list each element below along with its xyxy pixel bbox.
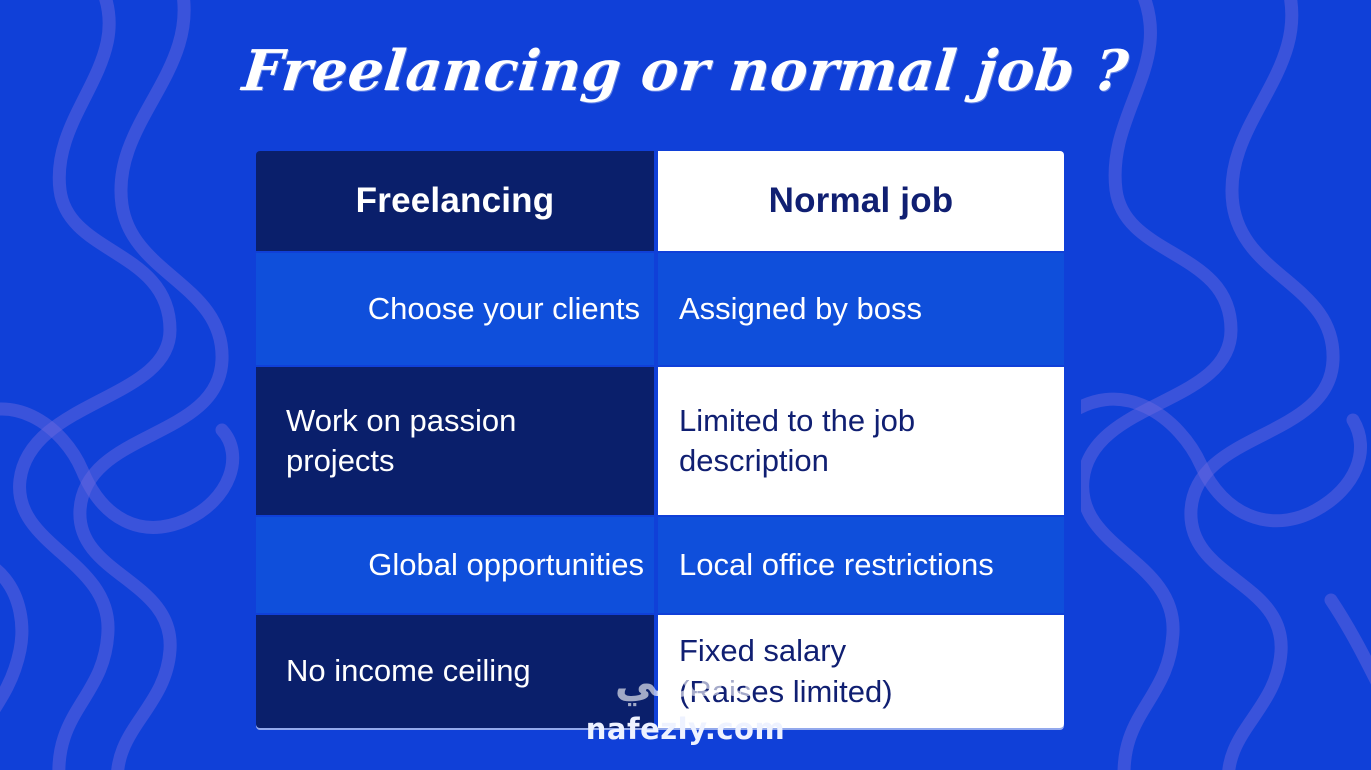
table-row: No income ceiling Fixed salary (Raises l… bbox=[256, 615, 1064, 728]
table-row: Work on passion projects Limited to the … bbox=[256, 367, 1064, 515]
table-header-row: Freelancing Normal job bbox=[256, 151, 1064, 251]
cell-freelancing-1: Choose your clients bbox=[256, 253, 654, 365]
slide-canvas: Freelancing or normal job ? Freelancing … bbox=[0, 0, 1371, 770]
cell-freelancing-2: Work on passion projects bbox=[256, 367, 654, 515]
page-title: Freelancing or normal job ? bbox=[0, 42, 1371, 101]
cell-freelancing-4-label: No income ceiling bbox=[286, 651, 531, 691]
column-header-freelancing-label: Freelancing bbox=[356, 181, 555, 221]
cell-normal-job-2: Limited to the job description bbox=[658, 367, 1064, 515]
cell-freelancing-4: No income ceiling bbox=[256, 615, 654, 728]
cell-freelancing-3: Global opportunities bbox=[256, 517, 654, 613]
cell-normal-job-4: Fixed salary (Raises limited) bbox=[658, 615, 1064, 728]
table-row: Global opportunities Local office restri… bbox=[256, 517, 1064, 613]
cell-freelancing-1-label: Choose your clients bbox=[368, 289, 640, 329]
decorative-squiggles-left bbox=[0, 0, 270, 770]
cell-normal-job-1: Assigned by boss bbox=[658, 253, 1064, 365]
cell-normal-job-3-label: Local office restrictions bbox=[679, 545, 994, 585]
cell-normal-job-2-label: Limited to the job description bbox=[679, 401, 915, 482]
cell-freelancing-2-label: Work on passion projects bbox=[286, 401, 516, 482]
cell-normal-job-4-label: Fixed salary (Raises limited) bbox=[679, 631, 893, 712]
column-header-normal-job: Normal job bbox=[658, 151, 1064, 251]
column-header-normal-job-label: Normal job bbox=[769, 181, 954, 221]
cell-normal-job-3: Local office restrictions bbox=[658, 517, 1064, 613]
column-header-freelancing: Freelancing bbox=[256, 151, 654, 251]
table-row: Choose your clients Assigned by boss bbox=[256, 253, 1064, 365]
decorative-squiggles-right bbox=[1081, 0, 1371, 770]
cell-normal-job-1-label: Assigned by boss bbox=[679, 289, 922, 329]
cell-freelancing-3-label: Global opportunities bbox=[368, 545, 644, 585]
comparison-table: Freelancing Normal job Choose your clien… bbox=[256, 151, 1064, 728]
